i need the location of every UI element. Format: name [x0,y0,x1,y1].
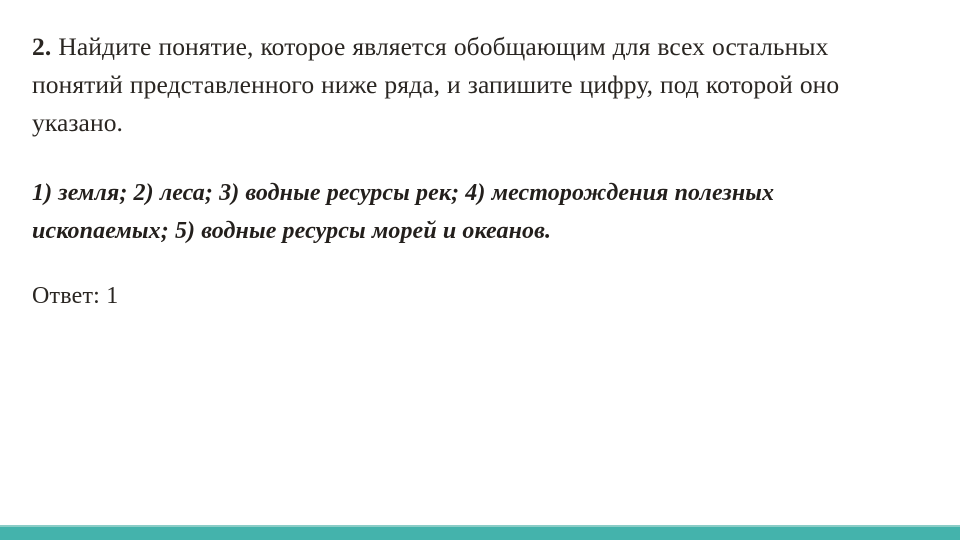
answer-line: Ответ: 1 [32,280,912,312]
slide-canvas: 2. Найдите понятие, которое является обо… [0,0,960,540]
series-paragraph: 1) земля; 2) леса; 3) водные ресурсы рек… [32,174,822,250]
question-text: Найдите понятие, которое является обобща… [32,32,839,137]
slide-content: 2. Найдите понятие, которое является обо… [32,28,912,312]
footer-accent-bar [0,527,960,540]
question-number: 2. [32,32,51,61]
question-paragraph: 2. Найдите понятие, которое является обо… [32,28,912,142]
